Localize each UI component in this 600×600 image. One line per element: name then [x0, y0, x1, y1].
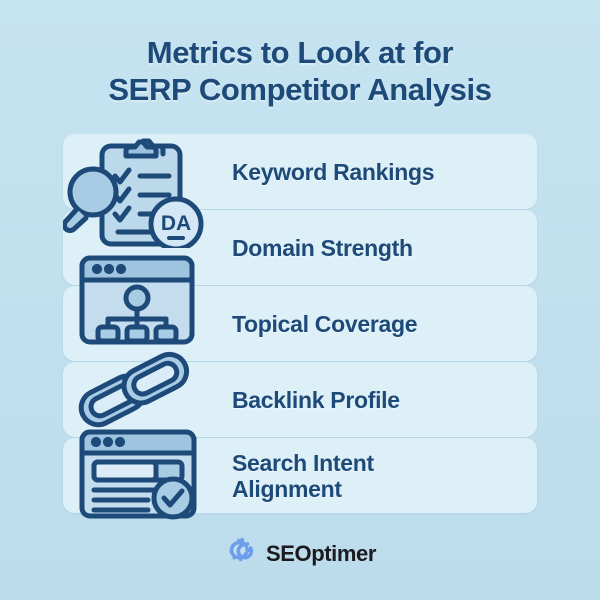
list-item[interactable]: Keyword Rankings: [63, 134, 537, 209]
brand-footer: SEOptimer: [0, 536, 600, 571]
list-item[interactable]: Domain Strength: [63, 210, 537, 285]
brand-name: SEOptimer: [266, 542, 376, 566]
list-item[interactable]: Backlink Profile: [63, 362, 537, 437]
list-item-label: Backlink Profile: [232, 362, 400, 437]
list-item[interactable]: Topical Coverage: [63, 286, 537, 361]
title-line-2: SERP Competitor Analysis: [0, 71, 600, 108]
list-item-label: Keyword Rankings: [232, 134, 434, 209]
infographic-poster: Metrics to Look at for SERP Competitor A…: [0, 0, 600, 600]
page-title: Metrics to Look at for SERP Competitor A…: [0, 34, 600, 108]
list-item-label: Topical Coverage: [232, 286, 417, 361]
seoptimer-gears-logo-icon: [224, 536, 258, 571]
metrics-list: Keyword Rankings Domain Strength Topical…: [63, 134, 537, 514]
list-item[interactable]: Search Intent Alignment: [63, 438, 537, 513]
title-line-1: Metrics to Look at for: [0, 34, 600, 71]
list-item-label: Domain Strength: [232, 210, 413, 285]
list-item-label: Search Intent Alignment: [232, 438, 374, 513]
